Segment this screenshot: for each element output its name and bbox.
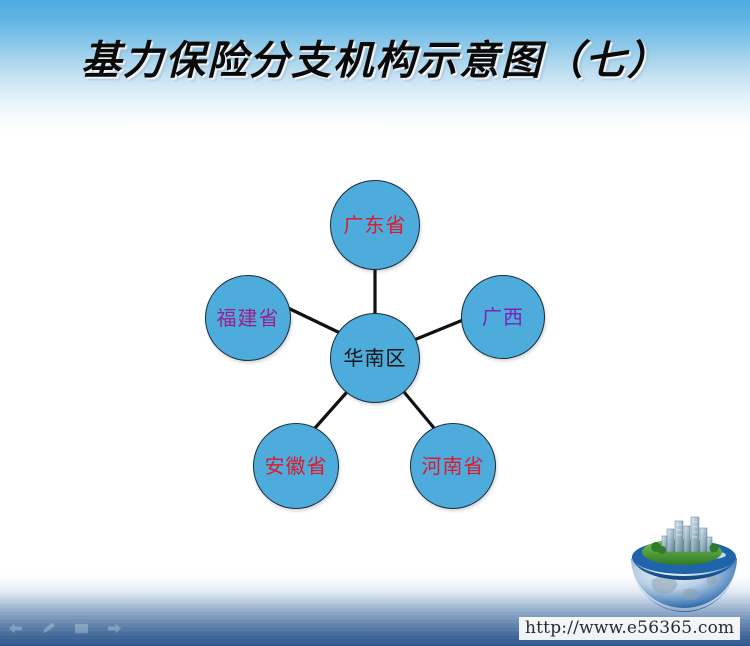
branch-node-label-guangdong: 广东省: [344, 215, 407, 235]
slide-menu-icon[interactable]: [72, 621, 91, 636]
branch-node-fujian[interactable]: 福建省: [205, 275, 291, 361]
globe-city-buildings: [662, 517, 712, 552]
edge-center-fujian: [288, 308, 338, 332]
branch-node-label-guangxi: 广西: [482, 307, 524, 327]
pen-icon[interactable]: [39, 621, 58, 636]
branch-node-label-henan: 河南省: [422, 456, 485, 476]
edge-center-guangxi: [414, 320, 463, 340]
branch-node-guangdong[interactable]: 广东省: [330, 180, 420, 270]
center-node-label: 华南区: [344, 348, 407, 368]
branch-node-guangxi[interactable]: 广西: [461, 275, 545, 359]
slideshow-nav-controls[interactable]: [6, 621, 124, 636]
watermark-url: http://www.e56365.com: [519, 617, 740, 640]
arrow-left-icon[interactable]: [6, 621, 25, 636]
arrow-right-icon[interactable]: [105, 621, 124, 636]
presentation-slide: 基力保险分支机构示意图（七） 华南区 广东省 福建省 广西 安徽省: [0, 0, 750, 646]
edge-center-henan: [404, 392, 434, 428]
branch-node-anhui[interactable]: 安徽省: [253, 423, 339, 509]
branch-node-label-fujian: 福建省: [217, 308, 280, 328]
branch-node-henan[interactable]: 河南省: [410, 423, 496, 509]
city-globe-logo: [622, 512, 746, 618]
center-node-huananqu[interactable]: 华南区: [330, 313, 420, 403]
edge-center-anhui: [315, 392, 347, 428]
branch-node-label-anhui: 安徽省: [265, 456, 328, 476]
